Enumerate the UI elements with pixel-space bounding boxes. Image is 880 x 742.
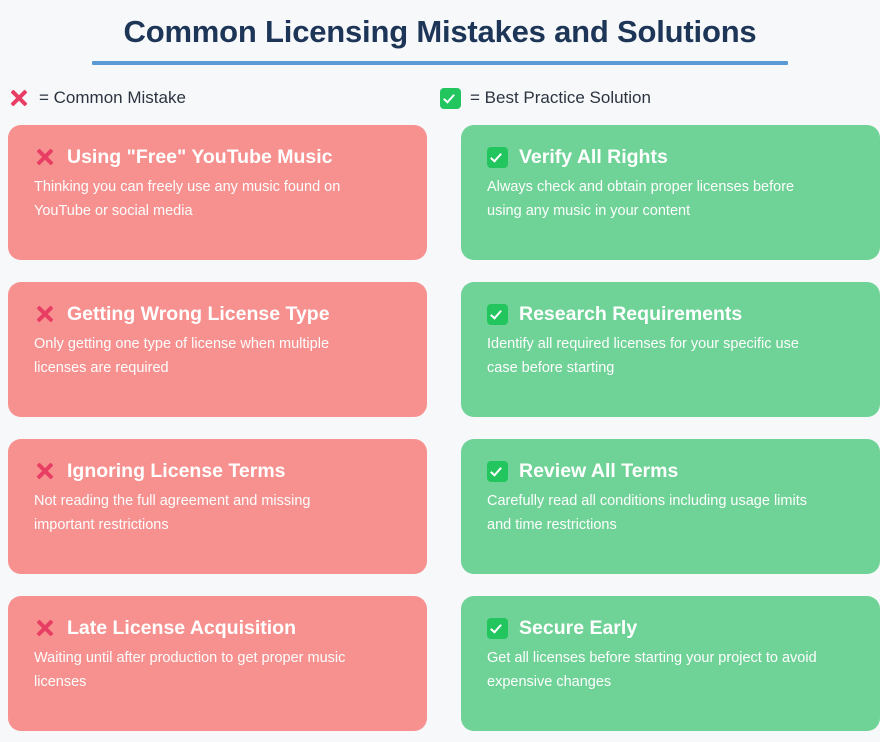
checkbox-checked-icon bbox=[440, 88, 461, 109]
card-title: Verify All Rights bbox=[519, 143, 668, 171]
solution-card[interactable]: Review All Terms Carefully read all cond… bbox=[461, 439, 880, 574]
card-title: Research Requirements bbox=[519, 300, 742, 328]
legend-label-solution: = Best Practice Solution bbox=[470, 85, 651, 111]
infographic-page: Common Licensing Mistakes and Solutions … bbox=[0, 0, 880, 742]
x-mark-icon bbox=[34, 146, 56, 168]
card-description: Thinking you can freely use any music fo… bbox=[34, 175, 364, 223]
x-mark-icon bbox=[34, 460, 56, 482]
solution-card[interactable]: Verify All Rights Always check and obtai… bbox=[461, 125, 880, 260]
x-mark-icon bbox=[8, 87, 30, 109]
checkbox-checked-icon bbox=[487, 147, 508, 168]
card-header: Review All Terms bbox=[487, 457, 854, 485]
mistake-card[interactable]: Late License Acquisition Waiting until a… bbox=[8, 596, 427, 731]
card-description: Identify all required licenses for your … bbox=[487, 332, 827, 380]
card-title: Ignoring License Terms bbox=[67, 457, 286, 485]
mistake-card[interactable]: Getting Wrong License Type Only getting … bbox=[8, 282, 427, 417]
card-description: Waiting until after production to get pr… bbox=[34, 646, 364, 694]
mistake-card[interactable]: Ignoring License Terms Not reading the f… bbox=[8, 439, 427, 574]
legend: = Common Mistake = Best Practice Solutio… bbox=[0, 85, 880, 115]
card-header: Ignoring License Terms bbox=[34, 457, 401, 485]
card-header: Getting Wrong License Type bbox=[34, 300, 401, 328]
card-title: Review All Terms bbox=[519, 457, 678, 485]
card-description: Always check and obtain proper licenses … bbox=[487, 175, 827, 223]
x-mark-icon bbox=[34, 303, 56, 325]
solution-card[interactable]: Research Requirements Identify all requi… bbox=[461, 282, 880, 417]
header: Common Licensing Mistakes and Solutions bbox=[0, 0, 880, 65]
x-mark-icon bbox=[34, 617, 56, 639]
solution-card[interactable]: Secure Early Get all licenses before sta… bbox=[461, 596, 880, 731]
card-header: Research Requirements bbox=[487, 300, 854, 328]
legend-item-mistake: = Common Mistake bbox=[8, 85, 186, 111]
legend-label-mistake: = Common Mistake bbox=[39, 85, 186, 111]
card-title: Secure Early bbox=[519, 614, 637, 642]
legend-item-solution: = Best Practice Solution bbox=[440, 85, 651, 111]
card-description: Carefully read all conditions including … bbox=[487, 489, 827, 537]
page-title: Common Licensing Mistakes and Solutions bbox=[0, 10, 880, 54]
checkbox-checked-icon bbox=[487, 304, 508, 325]
checkbox-checked-icon bbox=[487, 618, 508, 639]
card-description: Only getting one type of license when mu… bbox=[34, 332, 364, 380]
card-title: Getting Wrong License Type bbox=[67, 300, 330, 328]
title-underline-divider bbox=[92, 61, 788, 65]
card-header: Verify All Rights bbox=[487, 143, 854, 171]
card-title: Late License Acquisition bbox=[67, 614, 296, 642]
cards-grid: Using "Free" YouTube Music Thinking you … bbox=[0, 125, 880, 731]
checkbox-checked-icon bbox=[487, 461, 508, 482]
card-header: Late License Acquisition bbox=[34, 614, 401, 642]
card-title: Using "Free" YouTube Music bbox=[67, 143, 333, 171]
card-header: Using "Free" YouTube Music bbox=[34, 143, 401, 171]
card-header: Secure Early bbox=[487, 614, 854, 642]
card-description: Get all licenses before starting your pr… bbox=[487, 646, 827, 694]
mistake-card[interactable]: Using "Free" YouTube Music Thinking you … bbox=[8, 125, 427, 260]
card-description: Not reading the full agreement and missi… bbox=[34, 489, 364, 537]
